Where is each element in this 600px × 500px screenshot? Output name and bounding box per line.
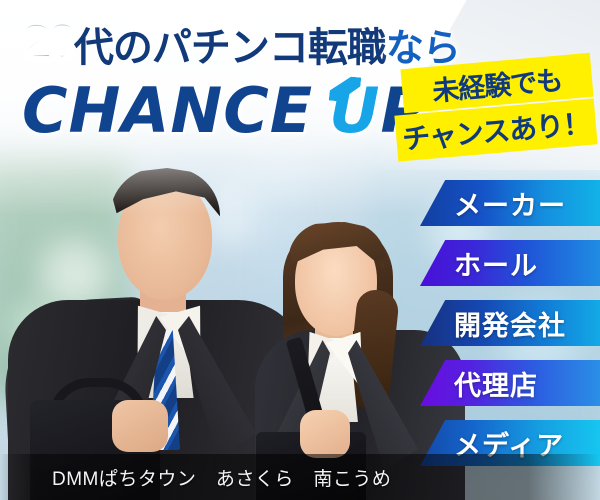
woman-hand <box>300 410 350 458</box>
logo-chance-text: CHANCE <box>22 74 313 147</box>
chance-up-logo: CHANCEUP <box>22 74 427 147</box>
headline-number: 20 <box>22 15 74 73</box>
category-label: メーカー <box>454 184 566 223</box>
category-item-maker[interactable]: メーカー <box>420 180 600 226</box>
credit-text: DMMぱちタウン あさくら 南こうめ <box>52 464 391 491</box>
category-item-developer[interactable]: 開発会社 <box>420 300 600 346</box>
category-label: 代理店 <box>454 364 538 403</box>
category-item-agency[interactable]: 代理店 <box>420 360 600 406</box>
category-label: 開発会社 <box>454 304 566 343</box>
status-badge: 未経験でも チャンスあり！ <box>396 55 596 165</box>
category-label: ホール <box>454 244 538 283</box>
credit-bar: DMMぱちタウン あさくら 南こうめ <box>0 454 600 500</box>
category-item-hall[interactable]: ホール <box>420 240 600 286</box>
category-list: メーカー ホール 開発会社 代理店 メディア <box>420 180 600 480</box>
page-title: 20代のパチンコ転職なら <box>22 14 460 74</box>
man-hand <box>112 400 168 452</box>
advertisement-banner[interactable]: 20代のパチンコ転職なら CHANCEUP 未経験でも チャンスあり！ メーカー… <box>0 0 600 500</box>
headline-middle: 代のパチンコ転職 <box>74 26 386 70</box>
